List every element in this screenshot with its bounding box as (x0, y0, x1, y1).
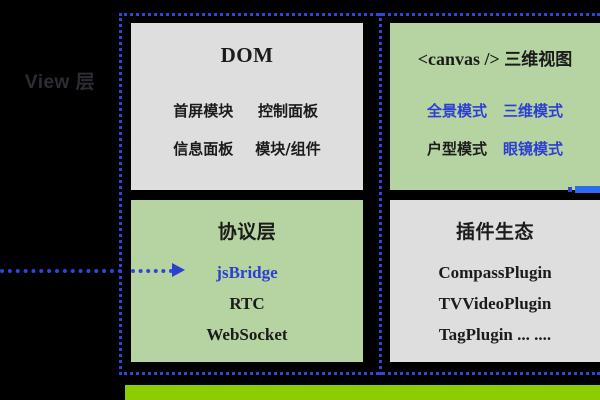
view-layer-label: View 层 (8, 60, 112, 100)
diagram-canvas: View 层 DOM 首屏模块 控制面板 信息面板 模块/组件 <canvas … (0, 0, 600, 400)
column-divider-line (379, 13, 382, 375)
dom-item-3[interactable]: 模块/组件 (255, 138, 320, 159)
dom-item-1[interactable]: 控制面板 (255, 100, 320, 121)
panel-canvas-items: 全景模式 三维模式 户型模式 眼镜模式 (427, 100, 563, 159)
plugin-item-compass[interactable]: CompassPlugin (438, 264, 551, 281)
panel-canvas-title-cjk: 三维视图 (504, 50, 572, 70)
panel-protocol-items: jsBridge RTC WebSocket (206, 264, 287, 343)
right-connector-bar (575, 186, 600, 193)
panel-plugin-items: CompassPlugin TVVideoPlugin TagPlugin ..… (438, 264, 551, 343)
panel-dom-title: DOM (221, 43, 274, 68)
panel-dom-items: 首屏模块 控制面板 信息面板 模块/组件 (173, 100, 321, 159)
canvas-item-0[interactable]: 全景模式 (427, 100, 487, 121)
panel-canvas-title-code: <canvas /> (418, 49, 500, 69)
protocol-item-rtc[interactable]: RTC (229, 295, 264, 312)
panel-dom[interactable]: DOM 首屏模块 控制面板 信息面板 模块/组件 (131, 23, 363, 190)
protocol-item-websocket[interactable]: WebSocket (206, 326, 287, 343)
panel-canvas[interactable]: <canvas /> 三维视图 全景模式 三维模式 户型模式 眼镜模式 (390, 23, 600, 190)
panel-protocol-title: 协议层 (218, 217, 277, 244)
plugin-item-tvvideo[interactable]: TVVideoPlugin (439, 295, 552, 312)
canvas-item-1[interactable]: 三维模式 (503, 100, 563, 121)
inbound-arrow-line-outer (0, 269, 122, 273)
panel-plugin[interactable]: 插件生态 CompassPlugin TVVideoPlugin TagPlug… (390, 200, 600, 362)
dom-item-2[interactable]: 信息面板 (173, 138, 233, 159)
canvas-item-2[interactable]: 户型模式 (427, 138, 487, 159)
canvas-item-3[interactable]: 眼镜模式 (503, 138, 563, 159)
panel-plugin-title: 插件生态 (456, 217, 534, 244)
panel-canvas-title: <canvas /> 三维视图 (418, 45, 573, 70)
inbound-arrow-head-icon (172, 263, 185, 277)
panel-protocol[interactable]: 协议层 jsBridge RTC WebSocket (131, 200, 363, 362)
bottom-green-bar (125, 385, 600, 400)
plugin-item-tag[interactable]: TagPlugin ... .... (439, 326, 551, 343)
inbound-arrow-line-inner (131, 269, 173, 273)
right-connector-dot (568, 187, 572, 192)
dom-item-0[interactable]: 首屏模块 (173, 100, 233, 121)
protocol-item-jsbridge[interactable]: jsBridge (216, 264, 277, 281)
